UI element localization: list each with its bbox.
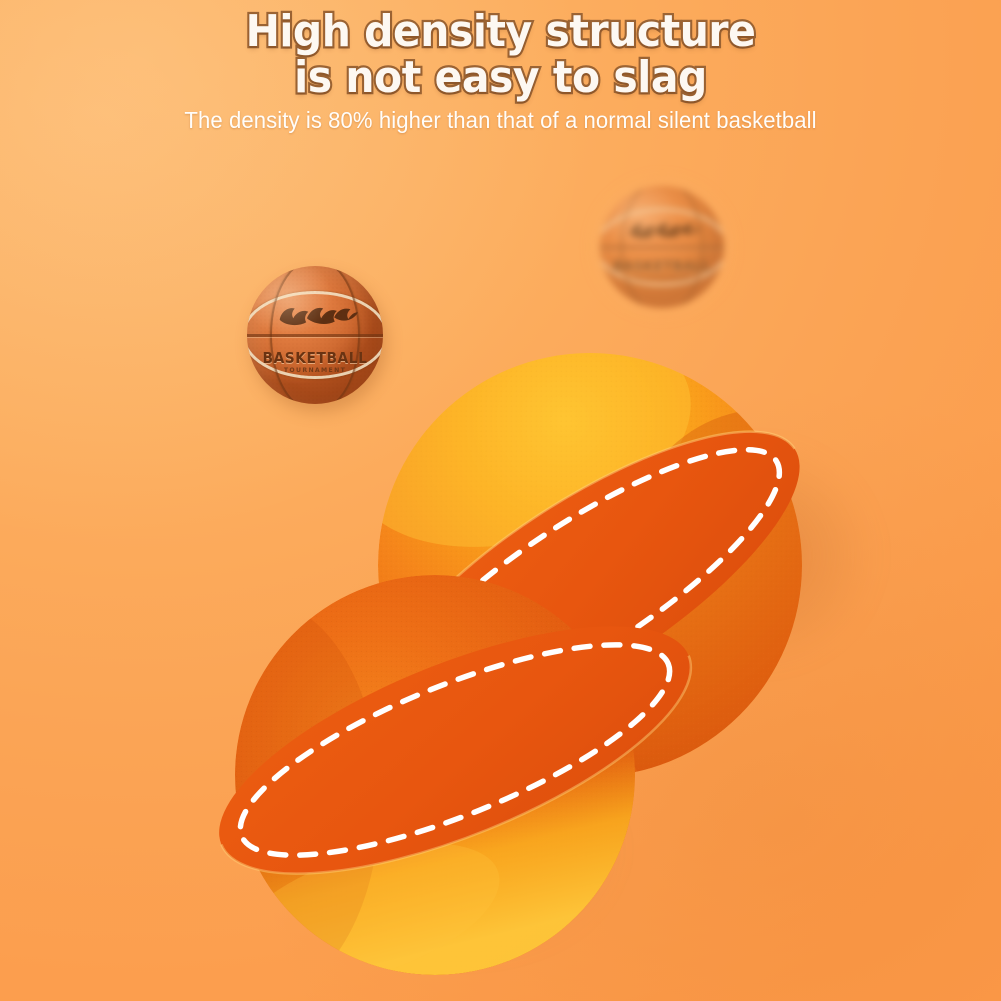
- headline-block: High density structure is not easy to sl…: [0, 4, 1001, 100]
- product-infographic: BASKETBALL TOURNAMENT BASKETBALL TOURNAM…: [0, 0, 1001, 1001]
- ghost-subtext: TOURNAMENT: [603, 274, 721, 282]
- subtitle: The density is 80% higher than that of a…: [20, 106, 981, 134]
- headline-line-2: is not easy to slag: [35, 56, 966, 100]
- basketball-blurred-ghost: BASKETBALL TOURNAMENT: [600, 186, 724, 308]
- flame-icon: [277, 302, 359, 330]
- headline-line-1: High density structure: [35, 10, 966, 54]
- ghost-wordmark: BASKETBALL: [605, 259, 719, 275]
- ghost-flame-icon: [627, 218, 701, 242]
- foam-hemisphere-lower: [190, 570, 710, 990]
- ghost-seam-equator: [600, 246, 724, 249]
